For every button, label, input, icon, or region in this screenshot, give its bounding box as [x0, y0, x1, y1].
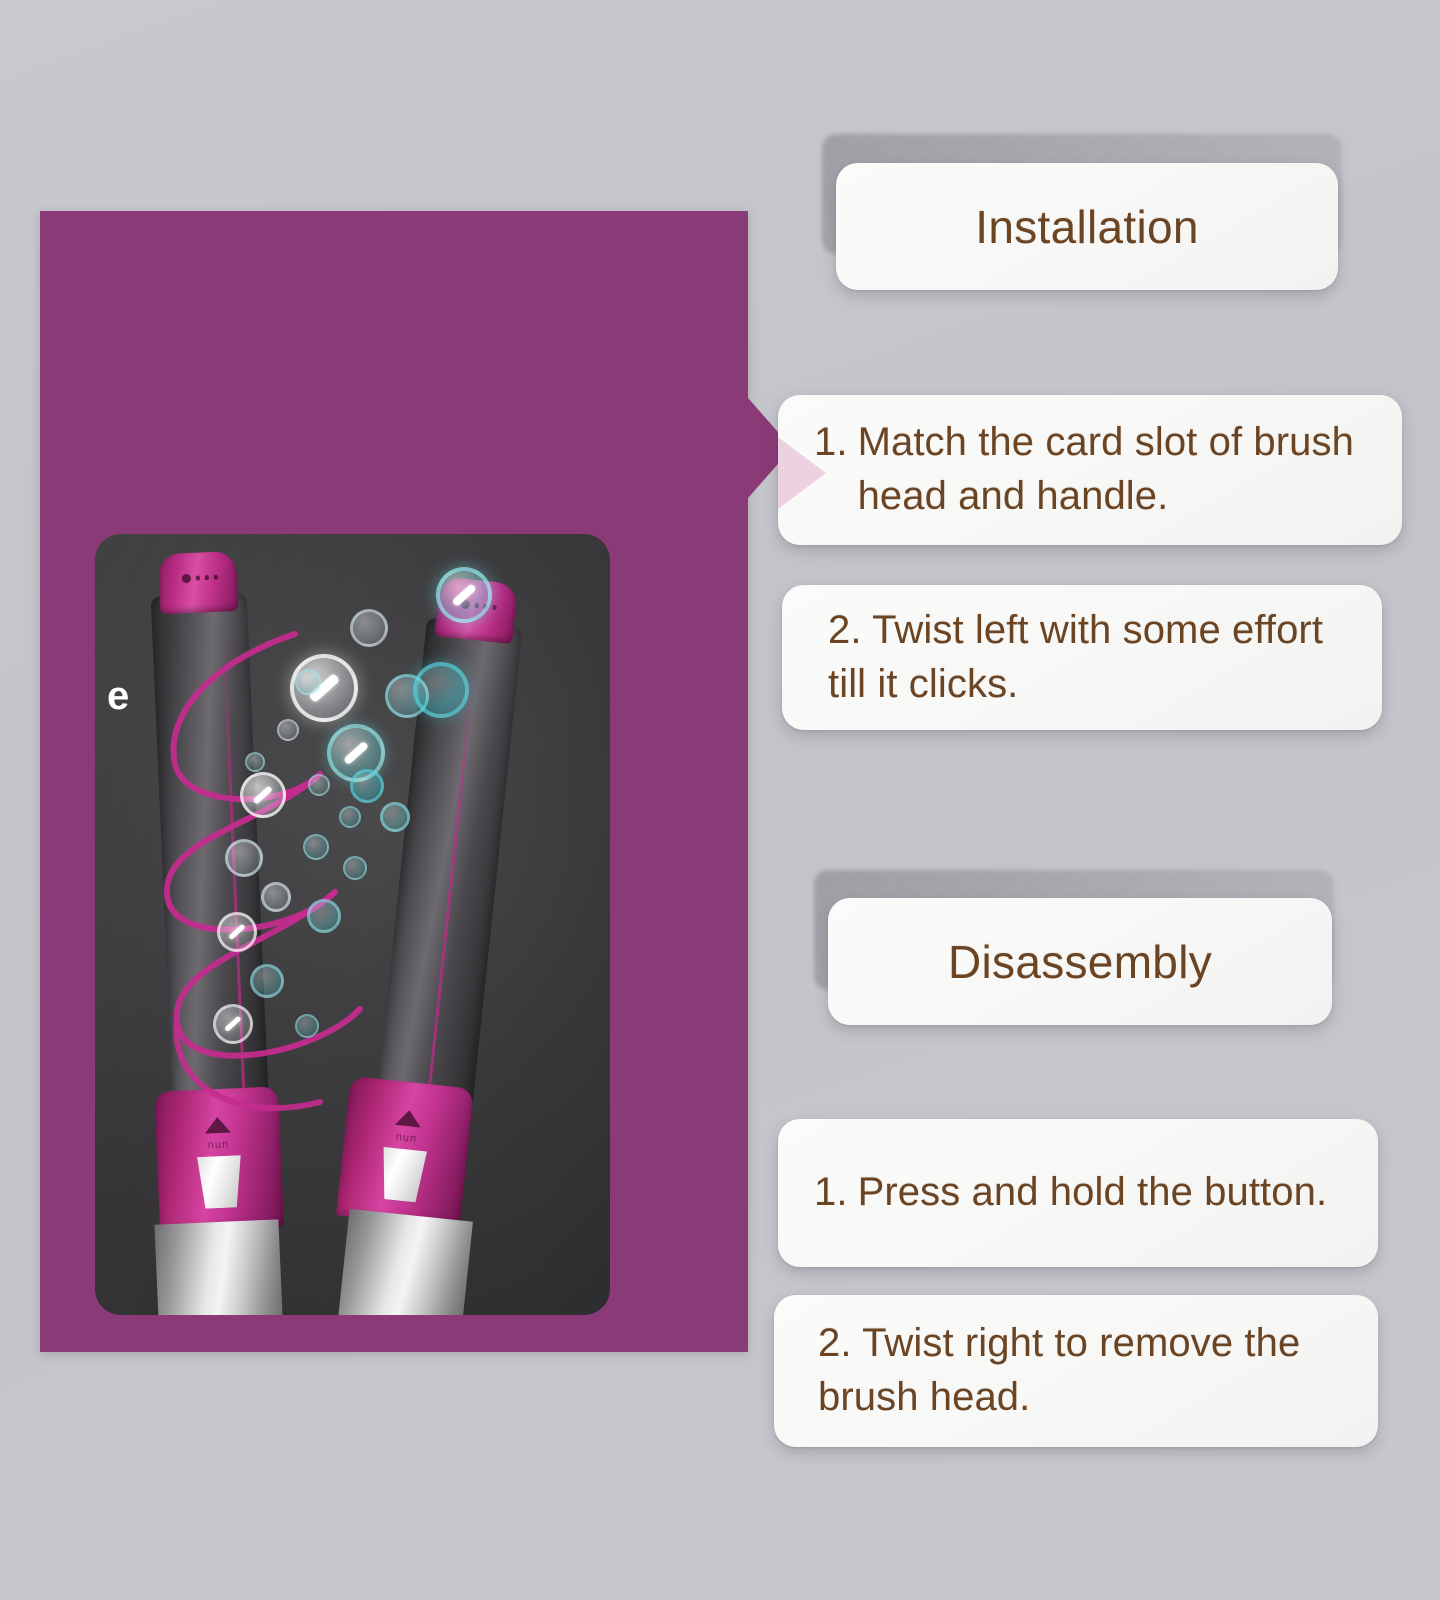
- step-number: 1.: [814, 1166, 848, 1220]
- step-number: 2.: [828, 608, 862, 652]
- bubble-icon: [277, 719, 299, 741]
- installation-step-1: 1. Match the card slot of brush head and…: [778, 395, 1402, 545]
- wand-left-tip-holes: [182, 574, 218, 582]
- installation-step-1-text: 1. Match the card slot of brush head and…: [814, 416, 1376, 523]
- bubble-icon: [413, 662, 469, 718]
- product-photo: nun nun: [95, 534, 610, 1315]
- purple-panel: How To Replace The Comb nun: [40, 211, 748, 1352]
- bubble-icon: [436, 567, 492, 623]
- step-body: Press and hold the button.: [858, 1166, 1328, 1220]
- step-number: 2.: [818, 1321, 852, 1365]
- bubble-icon: [225, 839, 263, 877]
- bubble-icon: [261, 882, 291, 912]
- bubble-icon: [295, 1014, 319, 1038]
- disassembly-heading: Disassembly: [948, 935, 1212, 989]
- wand-right-foot: [337, 1209, 473, 1315]
- installation-step-2: 2. Twist left with some effort till it c…: [782, 585, 1382, 730]
- bubble-icon: [307, 899, 341, 933]
- disassembly-step-2: 2. Twist right to remove the brush head.: [774, 1295, 1378, 1447]
- infographic-page: How To Replace The Comb nun: [0, 0, 1440, 1600]
- disassembly-step-2-text: 2. Twist right to remove the brush head.: [818, 1317, 1352, 1424]
- bubble-icon: [350, 609, 388, 647]
- section-header-installation: Installation: [836, 163, 1338, 290]
- stray-text-fragment: e: [107, 676, 129, 716]
- bubble-icon: [303, 834, 329, 860]
- bubble-icon: [343, 856, 367, 880]
- bubble-icon: [240, 772, 286, 818]
- wand-left-foot: [154, 1219, 283, 1315]
- disassembly-step-1-text: 1. Press and hold the button.: [814, 1166, 1327, 1220]
- step-body: Twist right to remove the brush head.: [818, 1321, 1300, 1419]
- bubble-icon: [308, 774, 330, 796]
- bubble-icon: [250, 964, 284, 998]
- section-header-disassembly: Disassembly: [828, 898, 1332, 1025]
- bubble-icon: [339, 806, 361, 828]
- step-body: Match the card slot of brush head and ha…: [858, 416, 1376, 523]
- step-body: Twist left with some effort till it clic…: [828, 608, 1323, 706]
- wand-left-tip: [158, 551, 239, 614]
- bubble-icon: [213, 1004, 253, 1044]
- step-pointer-wedge: [778, 437, 826, 509]
- bubble-icon: [295, 669, 321, 695]
- disassembly-step-1: 1. Press and hold the button.: [778, 1119, 1378, 1267]
- bubble-icon: [380, 802, 410, 832]
- installation-heading: Installation: [975, 200, 1199, 254]
- instructions-rail: Installation 1. Match the card slot of b…: [770, 0, 1410, 1600]
- installation-step-2-text: 2. Twist left with some effort till it c…: [828, 604, 1356, 711]
- release-button-left[interactable]: [193, 1155, 247, 1209]
- bubble-icon: [245, 752, 265, 772]
- bubble-icon: [217, 912, 257, 952]
- release-button-right[interactable]: [374, 1146, 431, 1203]
- bubble-icon: [350, 769, 384, 803]
